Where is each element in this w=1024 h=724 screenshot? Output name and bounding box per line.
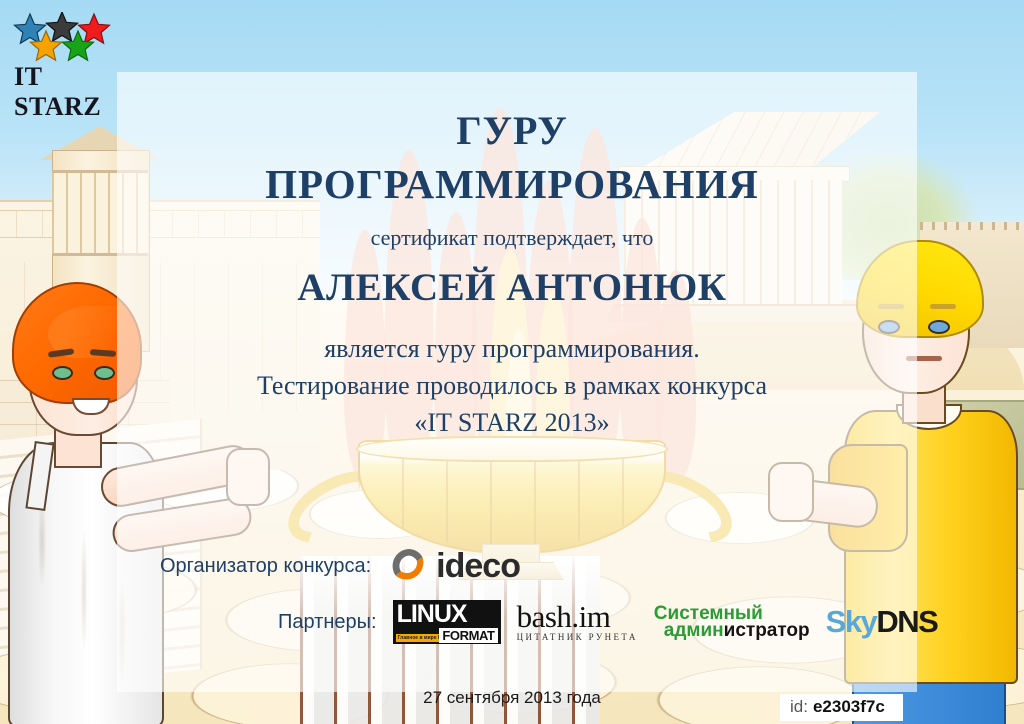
- certificate-content: IT STARZ ГУРУ ПРОГРАММИРОВАНИЯ сертифика…: [0, 0, 1024, 724]
- certificate-id-box: id:e2303f7c: [780, 694, 903, 721]
- skydns-part-dns: DNS: [876, 604, 937, 639]
- certificate-title-line1: ГУРУ: [0, 107, 1024, 154]
- bash-im-wordmark: bash.im: [517, 602, 638, 632]
- certificate-id-label: id:: [790, 697, 808, 716]
- partners-label: Партнеры:: [278, 611, 377, 634]
- certificate-body-line1: является гуру программирования.: [0, 334, 1024, 364]
- brand-stars-icon: [12, 12, 116, 62]
- partners-row: Партнеры: LINUX Главное в мире Linux FOR…: [278, 600, 937, 644]
- linux-format-line1: LINUX: [397, 601, 467, 627]
- certificate-canvas: IT STARZ ГУРУ ПРОГРАММИРОВАНИЯ сертифика…: [0, 0, 1024, 724]
- sa-line2-dark: истратор: [724, 620, 810, 641]
- organizer-row: Организатор конкурса: ideco: [160, 546, 520, 586]
- sa-line2: администратор: [664, 622, 810, 639]
- certificate-body-line3: «IT STARZ 2013»: [0, 408, 1024, 438]
- certificate-id-value: e2303f7c: [813, 697, 885, 716]
- skydns-logo: SkyDNS: [826, 604, 938, 640]
- linux-format-logo: LINUX Главное в мире Linux FORMAT: [393, 600, 501, 644]
- ideco-swirl-icon: [389, 546, 429, 586]
- certificate-title-line2: ПРОГРАММИРОВАНИЯ: [0, 160, 1024, 208]
- organizer-label: Организатор конкурса:: [160, 555, 371, 578]
- ideco-logo: ideco: [389, 546, 520, 586]
- ideco-wordmark: ideco: [436, 547, 520, 586]
- skydns-part-sky: Sky: [826, 604, 877, 639]
- sistemny-administrator-logo: Системный администратор: [654, 605, 810, 639]
- recipient-name: АЛЕКСЕЙ АНТОНЮК: [0, 265, 1024, 310]
- linux-format-line2: FORMAT: [439, 628, 497, 643]
- sa-line2-green: админ: [664, 620, 724, 641]
- bash-im-tagline: ЦИТАТНИК РУНЕТА: [517, 632, 638, 642]
- brand-logo: IT STARZ: [12, 12, 116, 90]
- bash-im-logo: bash.im ЦИТАТНИК РУНЕТА: [517, 602, 638, 642]
- certificate-body-line2: Тестирование проводилось в рамках конкур…: [0, 371, 1024, 401]
- certificate-subtitle: сертификат подтверждает, что: [0, 225, 1024, 251]
